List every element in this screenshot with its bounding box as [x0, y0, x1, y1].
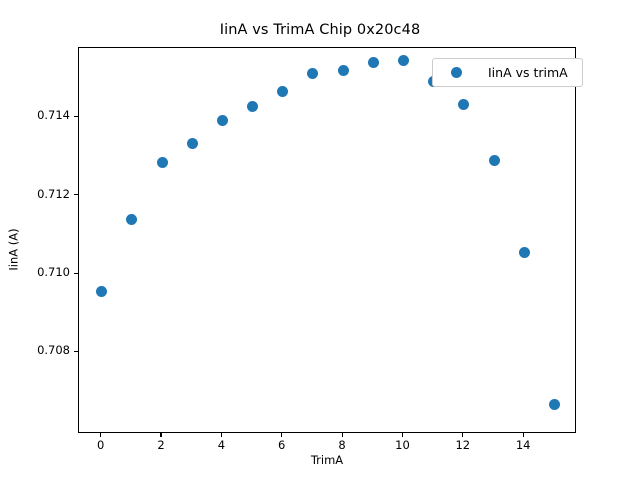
scatter-series-layer	[79, 48, 575, 432]
data-point	[458, 99, 469, 110]
x-tick-label: 8	[322, 438, 362, 452]
legend-marker-icon	[451, 67, 462, 78]
data-point	[277, 86, 288, 97]
chart-legend[interactable]: IinA vs trimA	[432, 58, 583, 87]
legend-label: IinA vs trimA	[488, 65, 572, 80]
x-tick-label: 6	[262, 438, 302, 452]
x-tick-label: 2	[141, 438, 181, 452]
x-tick-label: 14	[503, 438, 543, 452]
x-tick-mark	[281, 433, 282, 437]
data-point	[307, 68, 318, 79]
plot-area	[78, 47, 576, 433]
x-tick-label: 4	[201, 438, 241, 452]
x-tick-mark	[342, 433, 343, 437]
data-point	[157, 157, 168, 168]
data-point	[247, 101, 258, 112]
x-tick-mark	[221, 433, 222, 437]
chart-figure: IinA vs TrimA Chip 0x20c48 02468101214 0…	[0, 0, 640, 480]
x-axis-label: TrimA	[78, 453, 576, 467]
chart-title: IinA vs TrimA Chip 0x20c48	[0, 22, 640, 38]
x-tick-mark	[100, 433, 101, 437]
x-tick-label: 0	[81, 438, 121, 452]
data-point	[338, 65, 349, 76]
x-tick-mark	[462, 433, 463, 437]
x-tick-mark	[402, 433, 403, 437]
y-tick-mark	[74, 194, 78, 195]
data-point	[549, 399, 560, 410]
data-point	[398, 55, 409, 66]
data-point	[489, 155, 500, 166]
x-tick-label: 10	[382, 438, 422, 452]
data-point	[217, 115, 228, 126]
data-point	[126, 214, 137, 225]
y-axis-label-wrapper: IinA (A)	[3, 57, 22, 443]
data-point	[96, 286, 107, 297]
x-tick-mark	[160, 433, 161, 437]
y-axis-label: IinA (A)	[7, 228, 21, 270]
y-tick-mark	[74, 351, 78, 352]
y-tick-mark	[74, 273, 78, 274]
data-point	[519, 247, 530, 258]
data-point	[368, 57, 379, 68]
y-tick-mark	[74, 116, 78, 117]
x-tick-label: 12	[443, 438, 483, 452]
data-point	[187, 138, 198, 149]
x-tick-mark	[523, 433, 524, 437]
